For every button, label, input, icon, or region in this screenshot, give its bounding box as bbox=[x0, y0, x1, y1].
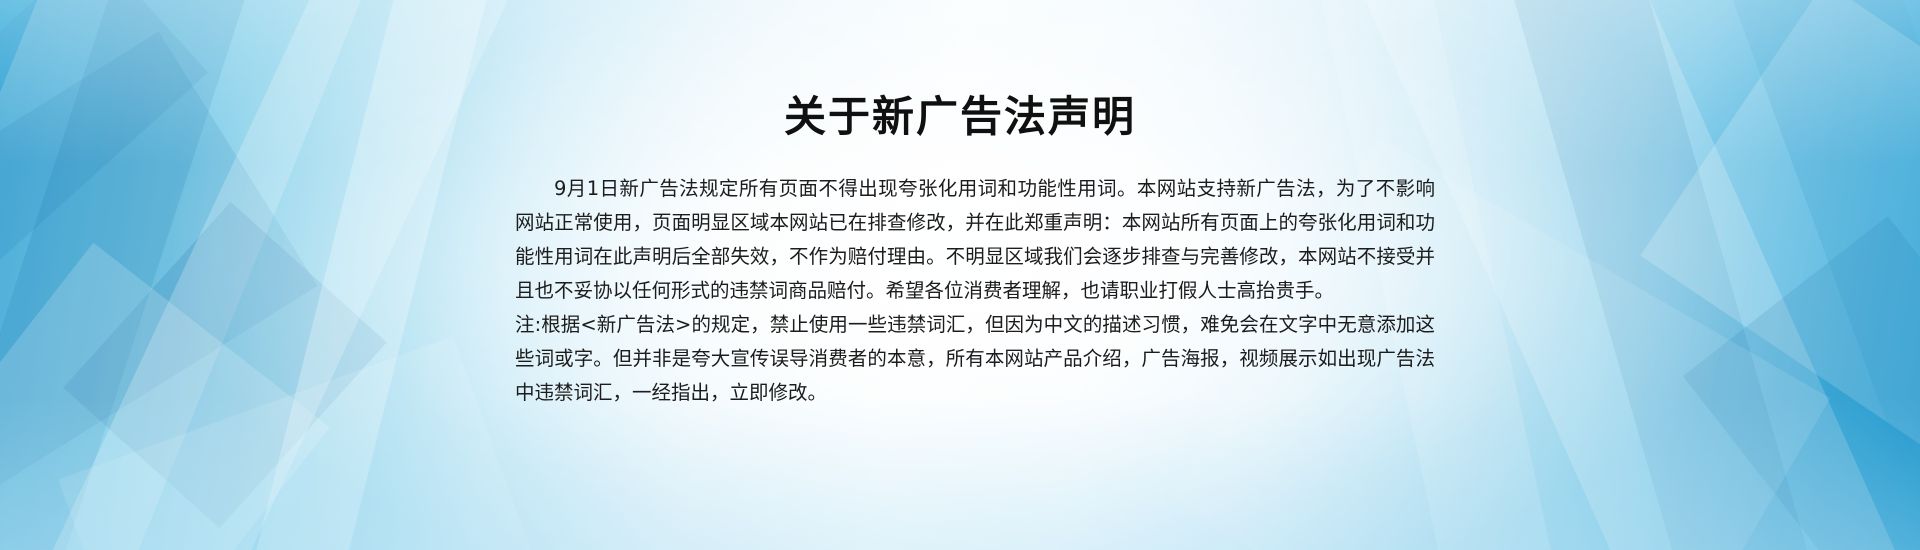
announcement-paragraph-2: 注:根据<新广告法>的规定，禁止使用一些违禁词汇，但因为中文的描述习惯，难免会在… bbox=[515, 308, 1435, 410]
announcement-paragraph-1: 9月1日新广告法规定所有页面不得出现夸张化用词和功能性用词。本网站支持新广告法，… bbox=[515, 172, 1435, 308]
announcement-body: 9月1日新广告法规定所有页面不得出现夸张化用词和功能性用词。本网站支持新广告法，… bbox=[515, 172, 1435, 410]
page-title: 关于新广告法声明 bbox=[0, 83, 1920, 144]
announcement-content: 关于新广告法声明 9月1日新广告法规定所有页面不得出现夸张化用词和功能性用词。本… bbox=[0, 0, 1920, 550]
announcement-banner: 关于新广告法声明 9月1日新广告法规定所有页面不得出现夸张化用词和功能性用词。本… bbox=[0, 0, 1920, 550]
